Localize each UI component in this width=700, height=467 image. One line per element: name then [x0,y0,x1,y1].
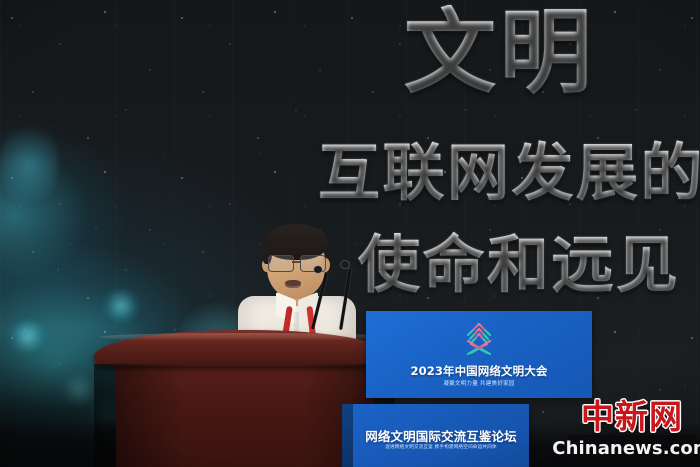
forum-sign-lower: 网络文明国际交流互鉴论坛 促进网络文明交流互鉴 携手构建网络空间命运共同体 [353,404,529,467]
headline-primary: 文明 [404,5,595,102]
glasses-lens-left [268,255,294,272]
chinanews-logo-icon: 中新网 [568,391,696,437]
watermark-domain-bar: Chinanews.com [568,435,696,461]
conference-star-emblem [456,320,502,360]
watermark-domain-text: Chinanews.com [552,438,700,459]
conference-sign-upper-subtitle: 凝聚文明力量 共建美好家园 [366,379,592,387]
forum-sign-lower-subtitle: 促进网络文明交流互鉴 携手构建网络空间命运共同体 [353,444,529,450]
screenshot-root: 文明 互联网发展的 使命和远见 :沈卫星 [0,0,700,467]
headline-secondary-line-2: 使命和远见 [358,232,680,297]
glasses-bridge [292,261,300,263]
watermark: 中新网 Chinanews.com [568,391,696,463]
lectern-top-surface [94,330,394,366]
speaker-mouth [285,280,301,288]
microphone-capsule-left [314,266,322,273]
conference-sign-upper: 2023年中国网络文明大会 凝聚文明力量 共建美好家园 [366,311,592,398]
glasses-lens-right [300,255,326,272]
headline-secondary-line-1: 互联网发展的 [318,140,700,205]
microphone-capsule-right [341,261,349,268]
conference-sign-upper-title: 2023年中国网络文明大会 [366,363,592,379]
forum-sign-lower-title: 网络文明国际交流互鉴论坛 [353,426,529,445]
